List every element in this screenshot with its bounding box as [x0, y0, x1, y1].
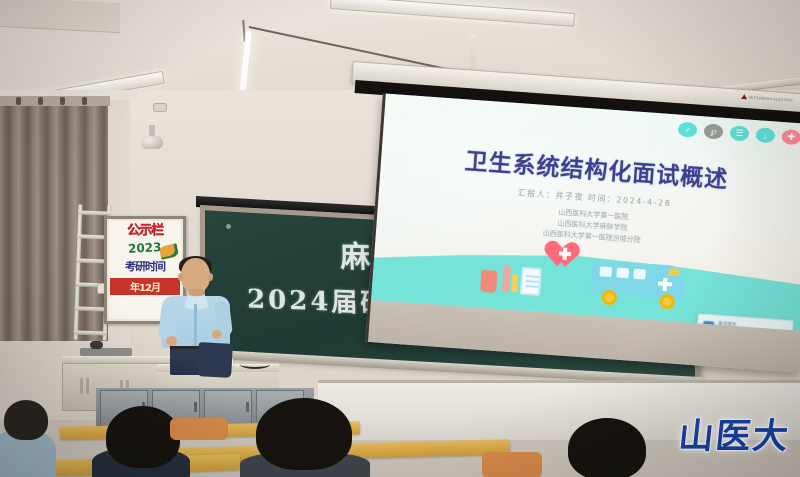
document-icon: ☰ — [729, 125, 749, 141]
chalk-text-line-1: 麻 — [339, 232, 371, 277]
projection-screen: ♂ ℘ ☰ ↓ ✚ 卫生系统结构化面试概述 汇报人：井子夜 时间：2024-4-… — [365, 93, 800, 372]
ladder-rail — [74, 204, 83, 339]
ladder-rung — [78, 210, 111, 215]
poster-subheading: 考研时间 — [125, 258, 165, 274]
audience-member — [482, 452, 542, 477]
poster-heading: 公示栏 — [127, 224, 163, 237]
heart-cross-icon — [559, 251, 571, 256]
clipboard-icon — [520, 267, 542, 296]
computer-mouse[interactable] — [90, 341, 103, 349]
presenter-head — [181, 258, 210, 293]
mitsubishi-logo-icon — [741, 94, 747, 99]
ambulance-window — [599, 266, 612, 277]
bottle-icon — [502, 265, 511, 291]
screen-brand-text: MITSUBISHI ELECTRIC — [749, 95, 793, 102]
poster-year: 2023 — [128, 240, 162, 256]
ambulance-window — [616, 268, 629, 279]
presenter-ear — [208, 273, 213, 281]
desk-equipment — [80, 348, 132, 356]
ambulance-wheel — [601, 290, 617, 306]
dark-bag — [197, 342, 233, 378]
classroom-photo: 公示栏 2023 考研时间 年12月 麻 2024届研究生 MITSUBISHI… — [0, 0, 800, 477]
ladder-rung — [75, 306, 108, 311]
clipboard-line — [525, 285, 538, 288]
flask-icon — [480, 270, 498, 293]
cable — [240, 360, 270, 369]
locker-handle[interactable] — [246, 402, 249, 412]
presentation-slide: ♂ ℘ ☰ ↓ ✚ 卫生系统结构化面试概述 汇报人：井子夜 时间：2024-4-… — [371, 94, 800, 331]
bottle-icon — [511, 274, 518, 292]
watermark-logo: 山医大 — [676, 408, 792, 459]
shirt-placket — [194, 304, 197, 348]
poster-banner-text: 年12月 — [130, 279, 160, 294]
ambulance-siren-icon — [669, 268, 679, 276]
ladder-rung — [74, 330, 107, 335]
medical-cross-icon: ✚ — [781, 129, 800, 145]
audience-head — [568, 418, 646, 477]
curtain-hook — [82, 97, 87, 105]
clipboard-line — [526, 275, 539, 278]
audience-head — [4, 400, 48, 440]
curtain-hook — [16, 97, 21, 105]
cabinet-vent — [80, 378, 83, 394]
curtain-hook — [60, 97, 65, 105]
chalk-mark — [226, 224, 231, 229]
ambulance-window — [633, 269, 646, 280]
stethoscope-icon: ℘ — [704, 123, 724, 139]
locker-handle[interactable] — [194, 402, 197, 412]
ambulance-wheel — [659, 294, 675, 310]
cabinet-vent — [86, 378, 89, 394]
audience-head — [106, 406, 180, 468]
presenter-ear — [178, 273, 183, 281]
clipboard-line — [526, 280, 539, 283]
security-camera-icon — [141, 136, 163, 149]
wall-sensor-icon — [153, 103, 167, 112]
presenter-hand — [166, 336, 177, 346]
presenter-hand — [212, 330, 222, 339]
screen-brand-logo: MITSUBISHI ELECTRIC — [741, 94, 793, 103]
person-icon: ♂ — [678, 122, 698, 138]
presenter-person — [160, 258, 232, 370]
curtain-hook — [38, 97, 43, 105]
audience-member — [170, 418, 228, 440]
audience-head — [256, 398, 352, 470]
thermometer-icon: ↓ — [755, 127, 775, 143]
